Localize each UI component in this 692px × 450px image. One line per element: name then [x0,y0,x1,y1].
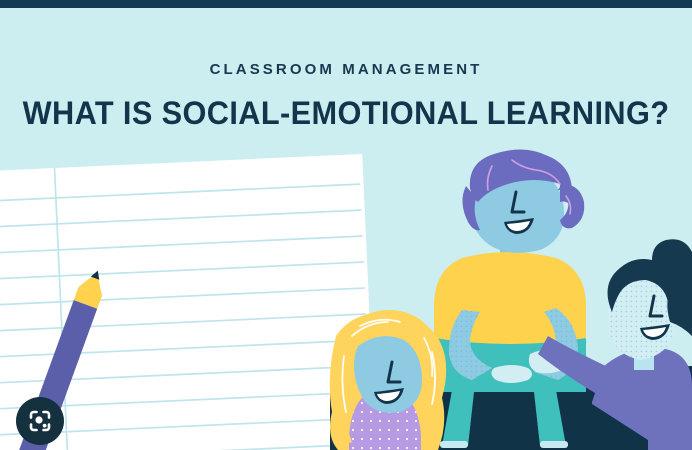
illustration [0,140,692,450]
student-blonde [330,310,446,450]
top-accent-bar [0,0,692,8]
google-lens-button[interactable] [16,397,64,445]
page-title: WHAT IS SOCIAL-EMOTIONAL LEARNING? [14,95,678,132]
poster-card: CLASSROOM MANAGEMENT WHAT IS SOCIAL-EMOT… [0,0,692,450]
google-lens-icon [27,408,53,434]
kicker-label: CLASSROOM MANAGEMENT [0,61,692,78]
